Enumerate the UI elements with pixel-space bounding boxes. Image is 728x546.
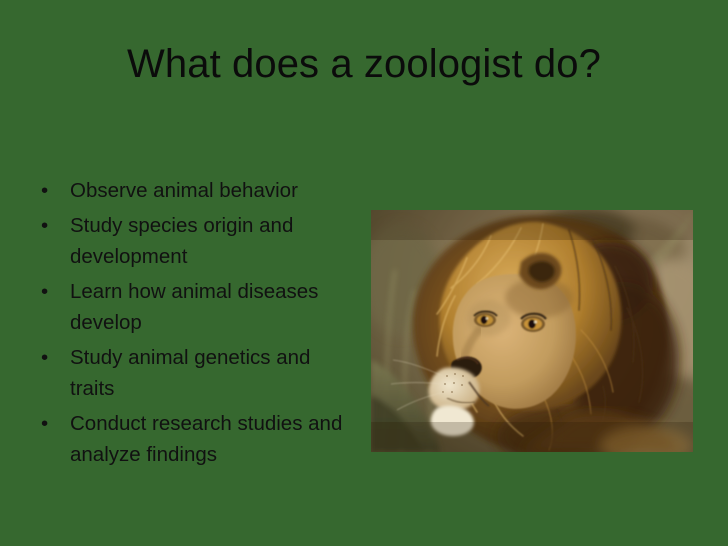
list-item: • Study species origin and development [36, 210, 356, 272]
bullet-icon: • [41, 342, 48, 373]
bullet-list: • Observe animal behavior • Study specie… [36, 175, 356, 474]
lion-photo [371, 210, 693, 452]
list-item: • Conduct research studies and analyze f… [36, 408, 356, 470]
bullet-icon: • [41, 175, 48, 206]
bullet-icon: • [41, 276, 48, 307]
list-item-label: Study animal genetics and traits [70, 346, 310, 400]
list-item-label: Learn how animal diseases develop [70, 280, 318, 334]
bullet-icon: • [41, 210, 48, 241]
list-item-label: Observe animal behavior [70, 179, 298, 202]
bullet-icon: • [41, 408, 48, 439]
list-item: • Study animal genetics and traits [36, 342, 356, 404]
slide: What does a zoologist do? • Observe anim… [0, 0, 728, 546]
list-item-label: Conduct research studies and analyze fin… [70, 412, 342, 466]
page-title: What does a zoologist do? [0, 40, 728, 88]
list-item: • Observe animal behavior [36, 175, 356, 206]
list-item-label: Study species origin and development [70, 214, 293, 268]
list-item: • Learn how animal diseases develop [36, 276, 356, 338]
